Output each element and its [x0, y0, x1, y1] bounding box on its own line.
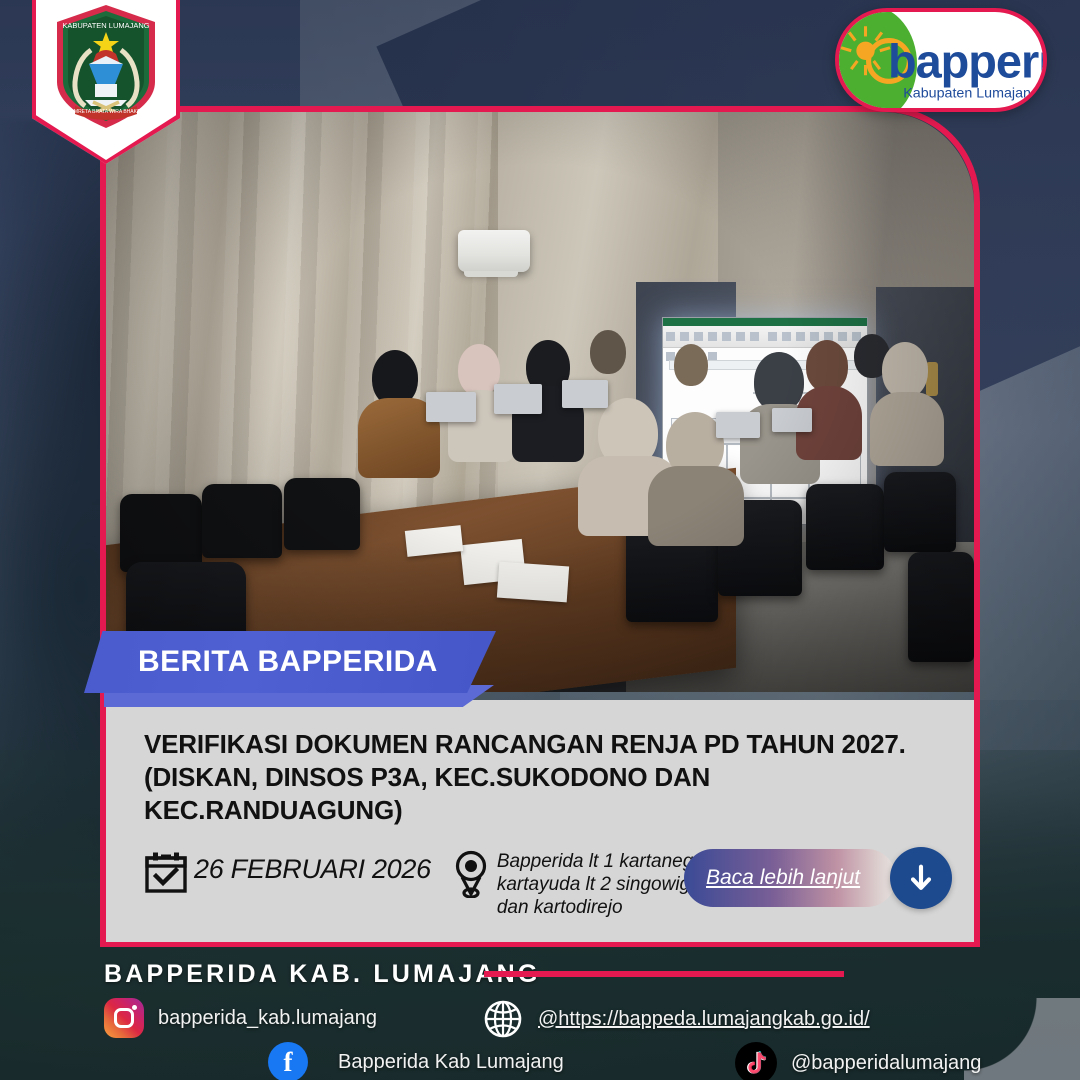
read-more-link[interactable]: Baca lebih lanjut: [706, 866, 860, 890]
facebook-handle[interactable]: Bapperida Kab Lumajang: [338, 1051, 564, 1074]
footer: BAPPERIDA KAB. LUMAJANG bapperida_kab.lu…: [0, 942, 1080, 1080]
bapperida-logo-badge: bapperida Kabupaten Lumajang: [835, 8, 1047, 112]
instagram-handle[interactable]: bapperida_kab.lumajang: [158, 1007, 377, 1030]
globe-icon[interactable]: [482, 998, 524, 1040]
banner-label: BERITA BAPPERIDA: [138, 645, 438, 679]
tiktok-handle[interactable]: @bapperidalumajang: [791, 1052, 981, 1075]
tiktok-icon[interactable]: [735, 1042, 777, 1080]
berita-banner: BERITA BAPPERIDA: [84, 631, 504, 701]
instagram-icon[interactable]: [104, 998, 144, 1038]
article-meta: 26 FEBRUARI 2026 Bapperida lt 1 kartaneg…: [144, 848, 747, 920]
footer-org-name: BAPPERIDA KAB. LUMAJANG: [104, 960, 541, 989]
article-title: VERIFIKASI DOKUMEN RANCANGAN RENJA PD TA…: [144, 728, 942, 827]
website-handle[interactable]: @https://bappeda.lumajangkab.go.id/: [538, 1008, 870, 1031]
social-instagram[interactable]: bapperida_kab.lumajang: [104, 998, 377, 1038]
poster-root: VERIFIKASI DOKUMEN RANCANGAN RENJA PD TA…: [0, 0, 1080, 1080]
calendar-check-icon: [144, 850, 188, 894]
banner-main: BERITA BAPPERIDA: [84, 631, 496, 693]
svg-text:Kabupaten Lumajang: Kabupaten Lumajang: [903, 86, 1039, 102]
svg-text:KABUPATEN LUMAJANG: KABUPATEN LUMAJANG: [62, 21, 149, 30]
svg-text:AMRETA BRATA WIRA BHAKTI: AMRETA BRATA WIRA BHAKTI: [71, 109, 142, 115]
photo-vignette: [106, 112, 974, 692]
footer-top-rule: [100, 942, 980, 947]
map-pin-icon: [451, 850, 491, 898]
read-more-cta[interactable]: Baca lebih lanjut: [684, 847, 952, 909]
news-photo: [106, 112, 974, 692]
social-facebook[interactable]: f Bapperida Kab Lumajang: [268, 1042, 564, 1080]
arrow-down-icon[interactable]: [890, 847, 952, 909]
article-card: VERIFIKASI DOKUMEN RANCANGAN RENJA PD TA…: [106, 700, 974, 942]
svg-text:bapperida: bapperida: [888, 35, 1043, 87]
social-website[interactable]: @https://bappeda.lumajangkab.go.id/: [482, 998, 870, 1040]
bapperida-wordmark-icon: bapperida Kabupaten Lumajang: [839, 14, 1043, 112]
footer-dash-rule: [484, 971, 844, 977]
read-more-pill[interactable]: Baca lebih lanjut: [684, 849, 896, 907]
social-tiktok[interactable]: @bapperidalumajang: [735, 1042, 981, 1080]
lumajang-crest-icon: KABUPATEN LUMAJANG AMRETA BRATA WIRA BHA…: [51, 2, 161, 132]
article-date: 26 FEBRUARI 2026: [194, 854, 431, 885]
facebook-icon[interactable]: f: [268, 1042, 308, 1080]
